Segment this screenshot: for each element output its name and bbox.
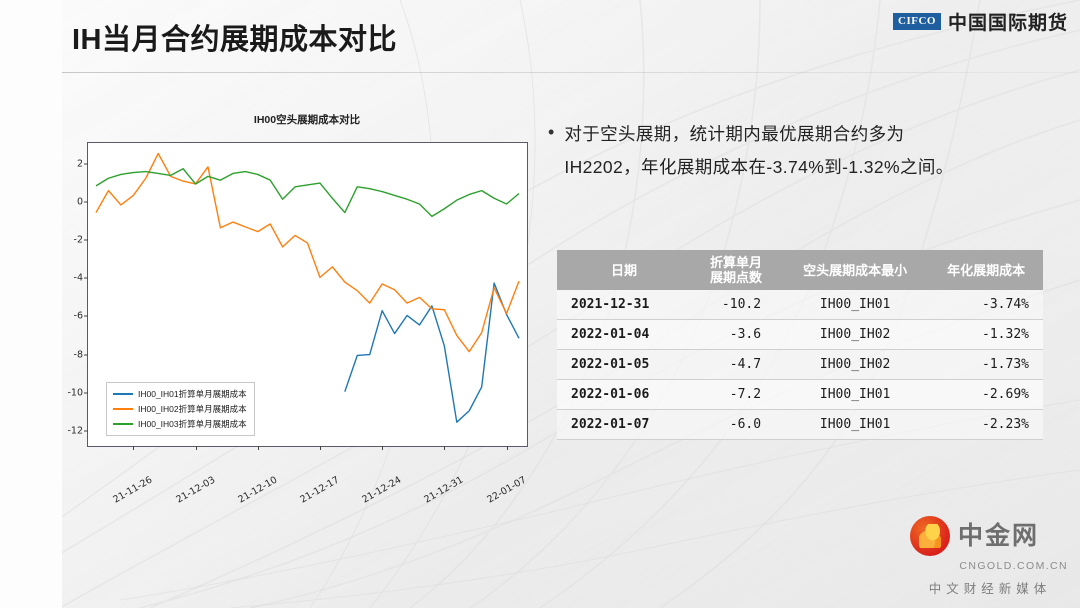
title-divider bbox=[62, 72, 1080, 73]
x-axis-tick-label: 21-11-26 bbox=[112, 475, 155, 506]
cell-annual: -2.23% bbox=[929, 410, 1043, 440]
watermark-name: 中金网 bbox=[958, 524, 1039, 549]
y-axis-tick-mark bbox=[84, 278, 88, 279]
chart-series-line bbox=[345, 283, 519, 422]
bullet-marker-icon: • bbox=[548, 118, 554, 184]
x-axis-tick-mark bbox=[507, 446, 508, 450]
table-column-header-0: 日期 bbox=[557, 250, 691, 290]
bullet-line-1: 对于空头展期，统计期内最优展期合约多为 bbox=[564, 118, 953, 151]
table-row: 2022-01-06-7.2IH00_IH01-2.69% bbox=[557, 380, 1043, 410]
cell-date: 2022-01-04 bbox=[557, 320, 691, 350]
bullet-body: 对于空头展期，统计期内最优展期合约多为 IH2202，年化展期成本在-3.74%… bbox=[564, 118, 953, 184]
legend-label: IH00_IH03折算单月展期成本 bbox=[138, 418, 247, 430]
brand-name-label: 中国国际期货 bbox=[948, 8, 1068, 35]
x-axis-tick-mark bbox=[133, 446, 134, 450]
cell-points: -10.2 bbox=[691, 290, 781, 320]
watermark-tagline: 中文财经新媒体 bbox=[910, 578, 1070, 597]
x-axis-tick-mark bbox=[382, 446, 383, 450]
table-row: 2022-01-07-6.0IH00_IH01-2.23% bbox=[557, 410, 1043, 440]
chart-legend: IH00_IH01折算单月展期成本IH00_IH02折算单月展期成本IH00_I… bbox=[106, 382, 255, 436]
x-axis-tick-mark bbox=[444, 446, 445, 450]
table-row: 2022-01-04-3.6IH00_IH02-1.32% bbox=[557, 320, 1043, 350]
bullet-paragraph: • 对于空头展期，统计期内最优展期合约多为 IH2202，年化展期成本在-3.7… bbox=[548, 118, 1068, 184]
legend-color-swatch bbox=[113, 408, 133, 410]
y-axis-tick-label: -8 bbox=[74, 349, 83, 360]
cell-annual: -1.73% bbox=[929, 350, 1043, 380]
y-axis-tick-mark bbox=[84, 163, 88, 164]
legend-item: IH00_IH01折算单月展期成本 bbox=[113, 388, 247, 400]
legend-color-swatch bbox=[113, 393, 133, 395]
legend-item: IH00_IH03折算单月展期成本 bbox=[113, 418, 247, 430]
table-header-row: 日期折算单月 展期点数空头展期成本最小年化展期成本 bbox=[557, 250, 1043, 290]
x-axis-tick-mark bbox=[258, 446, 259, 450]
cell-points: -4.7 bbox=[691, 350, 781, 380]
chart-series-line bbox=[96, 153, 519, 351]
y-axis-tick-mark bbox=[84, 240, 88, 241]
chart-title: IH00空头展期成本对比 bbox=[62, 112, 552, 127]
y-axis-tick-label: -10 bbox=[67, 387, 83, 398]
cell-contract: IH00_IH02 bbox=[781, 320, 929, 350]
cell-contract: IH00_IH02 bbox=[781, 350, 929, 380]
legend-item: IH00_IH02折算单月展期成本 bbox=[113, 403, 247, 415]
slide-canvas: IH当月合约展期成本对比 CIFCO 中国国际期货 IH00空头展期成本对比 I… bbox=[0, 0, 1080, 608]
y-axis-tick-mark bbox=[84, 392, 88, 393]
legend-color-swatch bbox=[113, 423, 133, 425]
chart-plot-area: IH00_IH01折算单月展期成本IH00_IH02折算单月展期成本IH00_I… bbox=[87, 142, 528, 447]
cell-date: 2022-01-05 bbox=[557, 350, 691, 380]
table-column-header-3: 年化展期成本 bbox=[929, 250, 1043, 290]
table-row: 2021-12-31-10.2IH00_IH01-3.74% bbox=[557, 290, 1043, 320]
chart-series-line bbox=[96, 169, 519, 217]
y-axis-tick-label: -12 bbox=[67, 425, 83, 436]
bullet-line-2: IH2202，年化展期成本在-3.74%到-1.32%之间。 bbox=[564, 151, 953, 184]
cell-date: 2022-01-07 bbox=[557, 410, 691, 440]
cell-points: -7.2 bbox=[691, 380, 781, 410]
y-axis-tick-mark bbox=[84, 202, 88, 203]
cell-annual: -2.69% bbox=[929, 380, 1043, 410]
page-title: IH当月合约展期成本对比 bbox=[72, 16, 397, 58]
x-axis-tick-label: 21-12-24 bbox=[361, 475, 404, 506]
table-column-header-1: 折算单月 展期点数 bbox=[691, 250, 781, 290]
cngold-logo-icon bbox=[910, 516, 950, 556]
cngold-watermark: 中金网 CNGOLD.COM.CN 中文财经新媒体 bbox=[910, 516, 1070, 600]
y-axis-tick-label: 2 bbox=[77, 158, 83, 169]
y-axis-tick-label: 0 bbox=[77, 197, 83, 208]
rollover-cost-table: 日期折算单月 展期点数空头展期成本最小年化展期成本 2021-12-31-10.… bbox=[557, 250, 1043, 440]
cell-points: -6.0 bbox=[691, 410, 781, 440]
cell-annual: -3.74% bbox=[929, 290, 1043, 320]
y-axis-tick-label: -2 bbox=[74, 235, 83, 246]
cell-date: 2022-01-06 bbox=[557, 380, 691, 410]
cell-contract: IH00_IH01 bbox=[781, 410, 929, 440]
cifco-logo-icon: CIFCO bbox=[893, 13, 941, 30]
table-column-header-2: 空头展期成本最小 bbox=[781, 250, 929, 290]
y-axis-tick-label: -4 bbox=[74, 273, 83, 284]
legend-label: IH00_IH02折算单月展期成本 bbox=[138, 403, 247, 415]
table-row: 2022-01-05-4.7IH00_IH02-1.73% bbox=[557, 350, 1043, 380]
x-axis-tick-mark bbox=[320, 446, 321, 450]
cell-contract: IH00_IH01 bbox=[781, 380, 929, 410]
x-axis-tick-label: 22-01-07 bbox=[485, 475, 528, 506]
cell-contract: IH00_IH01 bbox=[781, 290, 929, 320]
y-axis-tick-label: -6 bbox=[74, 311, 83, 322]
chart-panel: IH00空头展期成本对比 IH00_IH01折算单月展期成本IH00_IH02折… bbox=[62, 112, 552, 492]
y-axis-tick-mark bbox=[84, 316, 88, 317]
x-axis-tick-label: 21-12-17 bbox=[298, 475, 341, 506]
x-axis-tick-label: 21-12-03 bbox=[174, 475, 217, 506]
cell-points: -3.6 bbox=[691, 320, 781, 350]
x-axis-tick-label: 21-12-31 bbox=[423, 475, 466, 506]
cell-annual: -1.32% bbox=[929, 320, 1043, 350]
header-bar: IH当月合约展期成本对比 CIFCO 中国国际期货 bbox=[0, 0, 1080, 75]
watermark-url: CNGOLD.COM.CN bbox=[910, 560, 1070, 572]
brand-logo: CIFCO 中国国际期货 bbox=[893, 8, 1068, 35]
x-axis-tick-mark bbox=[196, 446, 197, 450]
left-margin-panel bbox=[0, 0, 62, 608]
x-axis-tick-label: 21-12-10 bbox=[236, 475, 279, 506]
watermark-top: 中金网 bbox=[910, 516, 1070, 556]
y-axis-tick-mark bbox=[84, 354, 88, 355]
legend-label: IH00_IH01折算单月展期成本 bbox=[138, 388, 247, 400]
y-axis-tick-mark bbox=[84, 430, 88, 431]
cell-date: 2021-12-31 bbox=[557, 290, 691, 320]
